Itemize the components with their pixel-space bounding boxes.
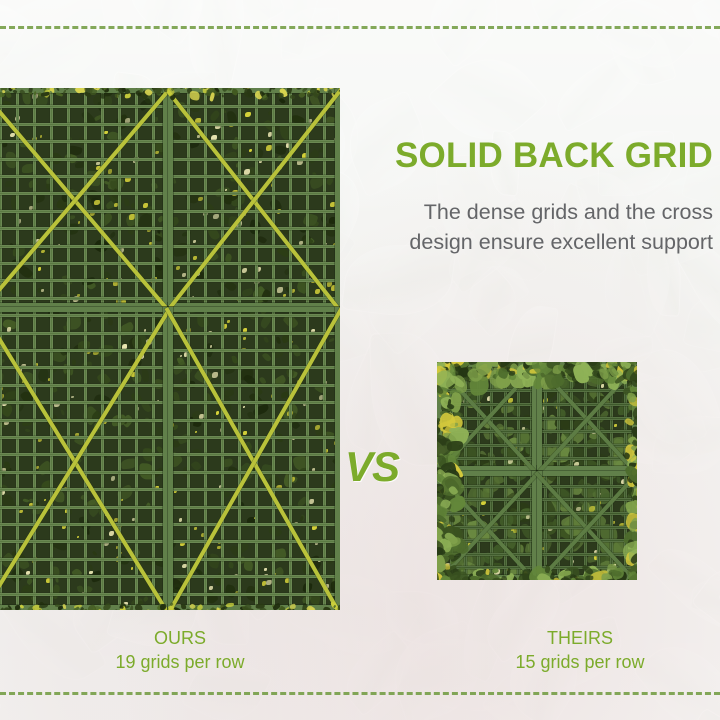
page-subtitle: The dense grids and the cross design ens… (293, 197, 713, 257)
theirs-caption-detail: 15 grids per row (435, 650, 720, 674)
dashed-rule-top (0, 26, 720, 29)
subtitle-line-2: design ensure excellent support (293, 227, 713, 257)
ours-caption-detail: 19 grids per row (35, 650, 325, 674)
theirs-caption-title: THEIRS (435, 626, 720, 650)
ours-lattice (0, 88, 340, 610)
ours-caption-title: OURS (35, 626, 325, 650)
theirs-grid-panel (437, 362, 637, 580)
subtitle-line-1: The dense grids and the cross (293, 197, 713, 227)
dashed-rule-bottom (0, 692, 720, 695)
product-comparison-graphic: SOLID BACK GRID The dense grids and the … (0, 0, 720, 720)
theirs-caption: THEIRS 15 grids per row (435, 626, 720, 674)
versus-label: VS (345, 444, 399, 490)
ours-caption: OURS 19 grids per row (35, 626, 325, 674)
ours-grid-panel (0, 88, 340, 610)
page-title: SOLID BACK GRID (293, 134, 713, 178)
